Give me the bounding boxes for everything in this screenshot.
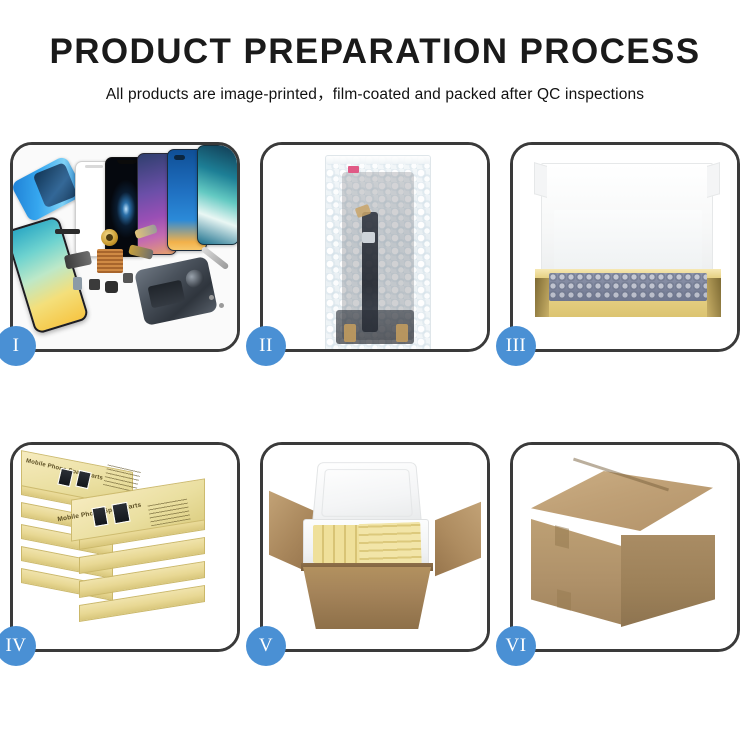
page-title: PRODUCT PREPARATION PROCESS	[0, 34, 750, 71]
tape-icon	[396, 324, 408, 342]
step-badge-5: V	[246, 626, 286, 666]
process-step-panel-3[interactable]: III	[510, 142, 740, 352]
screw-icon	[219, 303, 224, 308]
bubble-wrapped-item-icon	[549, 273, 707, 301]
step-4-image: Mobile Phone Spare Parts Mobile Phone Sp…	[13, 445, 237, 649]
process-step-panel-5[interactable]: V	[260, 442, 490, 652]
connector-icon	[73, 277, 82, 290]
step-badge-1: I	[0, 326, 36, 366]
product-preparation-process-page: PRODUCT PREPARATION PROCESS All products…	[0, 0, 750, 750]
carton-body-icon	[303, 567, 431, 629]
screw-icon	[209, 295, 214, 300]
pink-qc-label-icon	[348, 166, 359, 173]
tray-corner-right	[707, 278, 721, 317]
step-5-image	[263, 445, 487, 649]
retail-box-stack-icon: Mobile Phone Spare Parts Mobile Phone Sp…	[13, 445, 237, 649]
connector-icon	[105, 281, 118, 293]
foam-liner-icon	[554, 210, 702, 276]
box-screen-artwork	[91, 506, 108, 527]
process-step-panel-2[interactable]: II	[260, 142, 490, 352]
step-6-image	[513, 445, 737, 649]
step-badge-3: III	[496, 326, 536, 366]
step-badge-2: II	[246, 326, 286, 366]
battery-icon	[148, 280, 186, 309]
step-2-image	[263, 145, 487, 349]
page-header: PRODUCT PREPARATION PROCESS All products…	[0, 0, 750, 104]
box-screen-artwork	[111, 502, 130, 524]
step-badge-4: IV	[0, 626, 36, 666]
teal-display-screen-icon	[197, 145, 237, 245]
tape-icon	[344, 324, 356, 342]
yellow-boxes-row-icon	[358, 522, 421, 566]
carton-tape-icon	[557, 589, 571, 610]
process-step-panel-6[interactable]: VI	[510, 442, 740, 652]
process-step-grid: I II	[10, 142, 740, 694]
mesh-pad-icon	[97, 249, 123, 273]
step-3-image	[513, 145, 737, 349]
step-1-image	[13, 145, 237, 349]
sleeve-seal	[326, 156, 430, 164]
process-step-panel-1[interactable]: I	[10, 142, 240, 352]
connector-icon	[123, 273, 133, 283]
lcd-chip-icon	[362, 232, 375, 243]
bubble-wrap-sleeve-icon	[325, 155, 431, 349]
step-badge-6: VI	[496, 626, 536, 666]
carton-tape-icon	[555, 525, 569, 548]
camera-lens-icon	[184, 268, 205, 289]
speaker-strip-icon	[55, 229, 80, 234]
page-subtitle: All products are image-printed，film-coat…	[0, 82, 750, 104]
white-box-lid-icon	[541, 163, 713, 279]
copper-coil-icon	[101, 229, 118, 246]
tray-corner-left	[535, 278, 549, 317]
foam-lid-icon	[312, 462, 422, 525]
connector-icon	[89, 279, 100, 290]
process-step-panel-4[interactable]: Mobile Phone Spare Parts Mobile Phone Sp…	[10, 442, 240, 652]
